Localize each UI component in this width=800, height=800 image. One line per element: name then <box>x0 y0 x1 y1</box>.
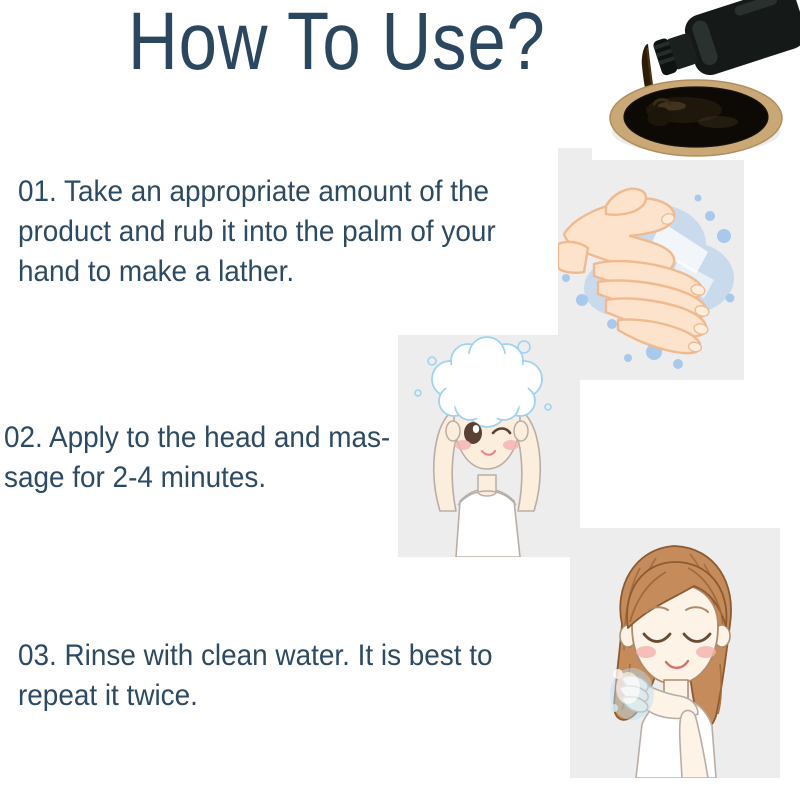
photo-bottle-pouring-oil <box>592 0 800 160</box>
bottle-and-bowl-graphic <box>592 0 800 160</box>
step-03-text: 03. Rinse with clean water. It is best t… <box>18 636 511 716</box>
image-panel-hands <box>558 148 744 380</box>
hands-washing-illustration <box>558 148 744 380</box>
poster-canvas: How To Use? 01. Take an appropriate amou… <box>0 0 800 800</box>
image-panel-rinse <box>570 528 780 778</box>
step-02-text: 02. Apply to the head and mas- sage for … <box>4 418 441 498</box>
step-01-text: 01. Take an appropriate amount of the pr… <box>18 172 548 292</box>
page-title: How To Use? <box>128 0 565 88</box>
girl-rinsing-hair-illustration <box>570 528 780 778</box>
